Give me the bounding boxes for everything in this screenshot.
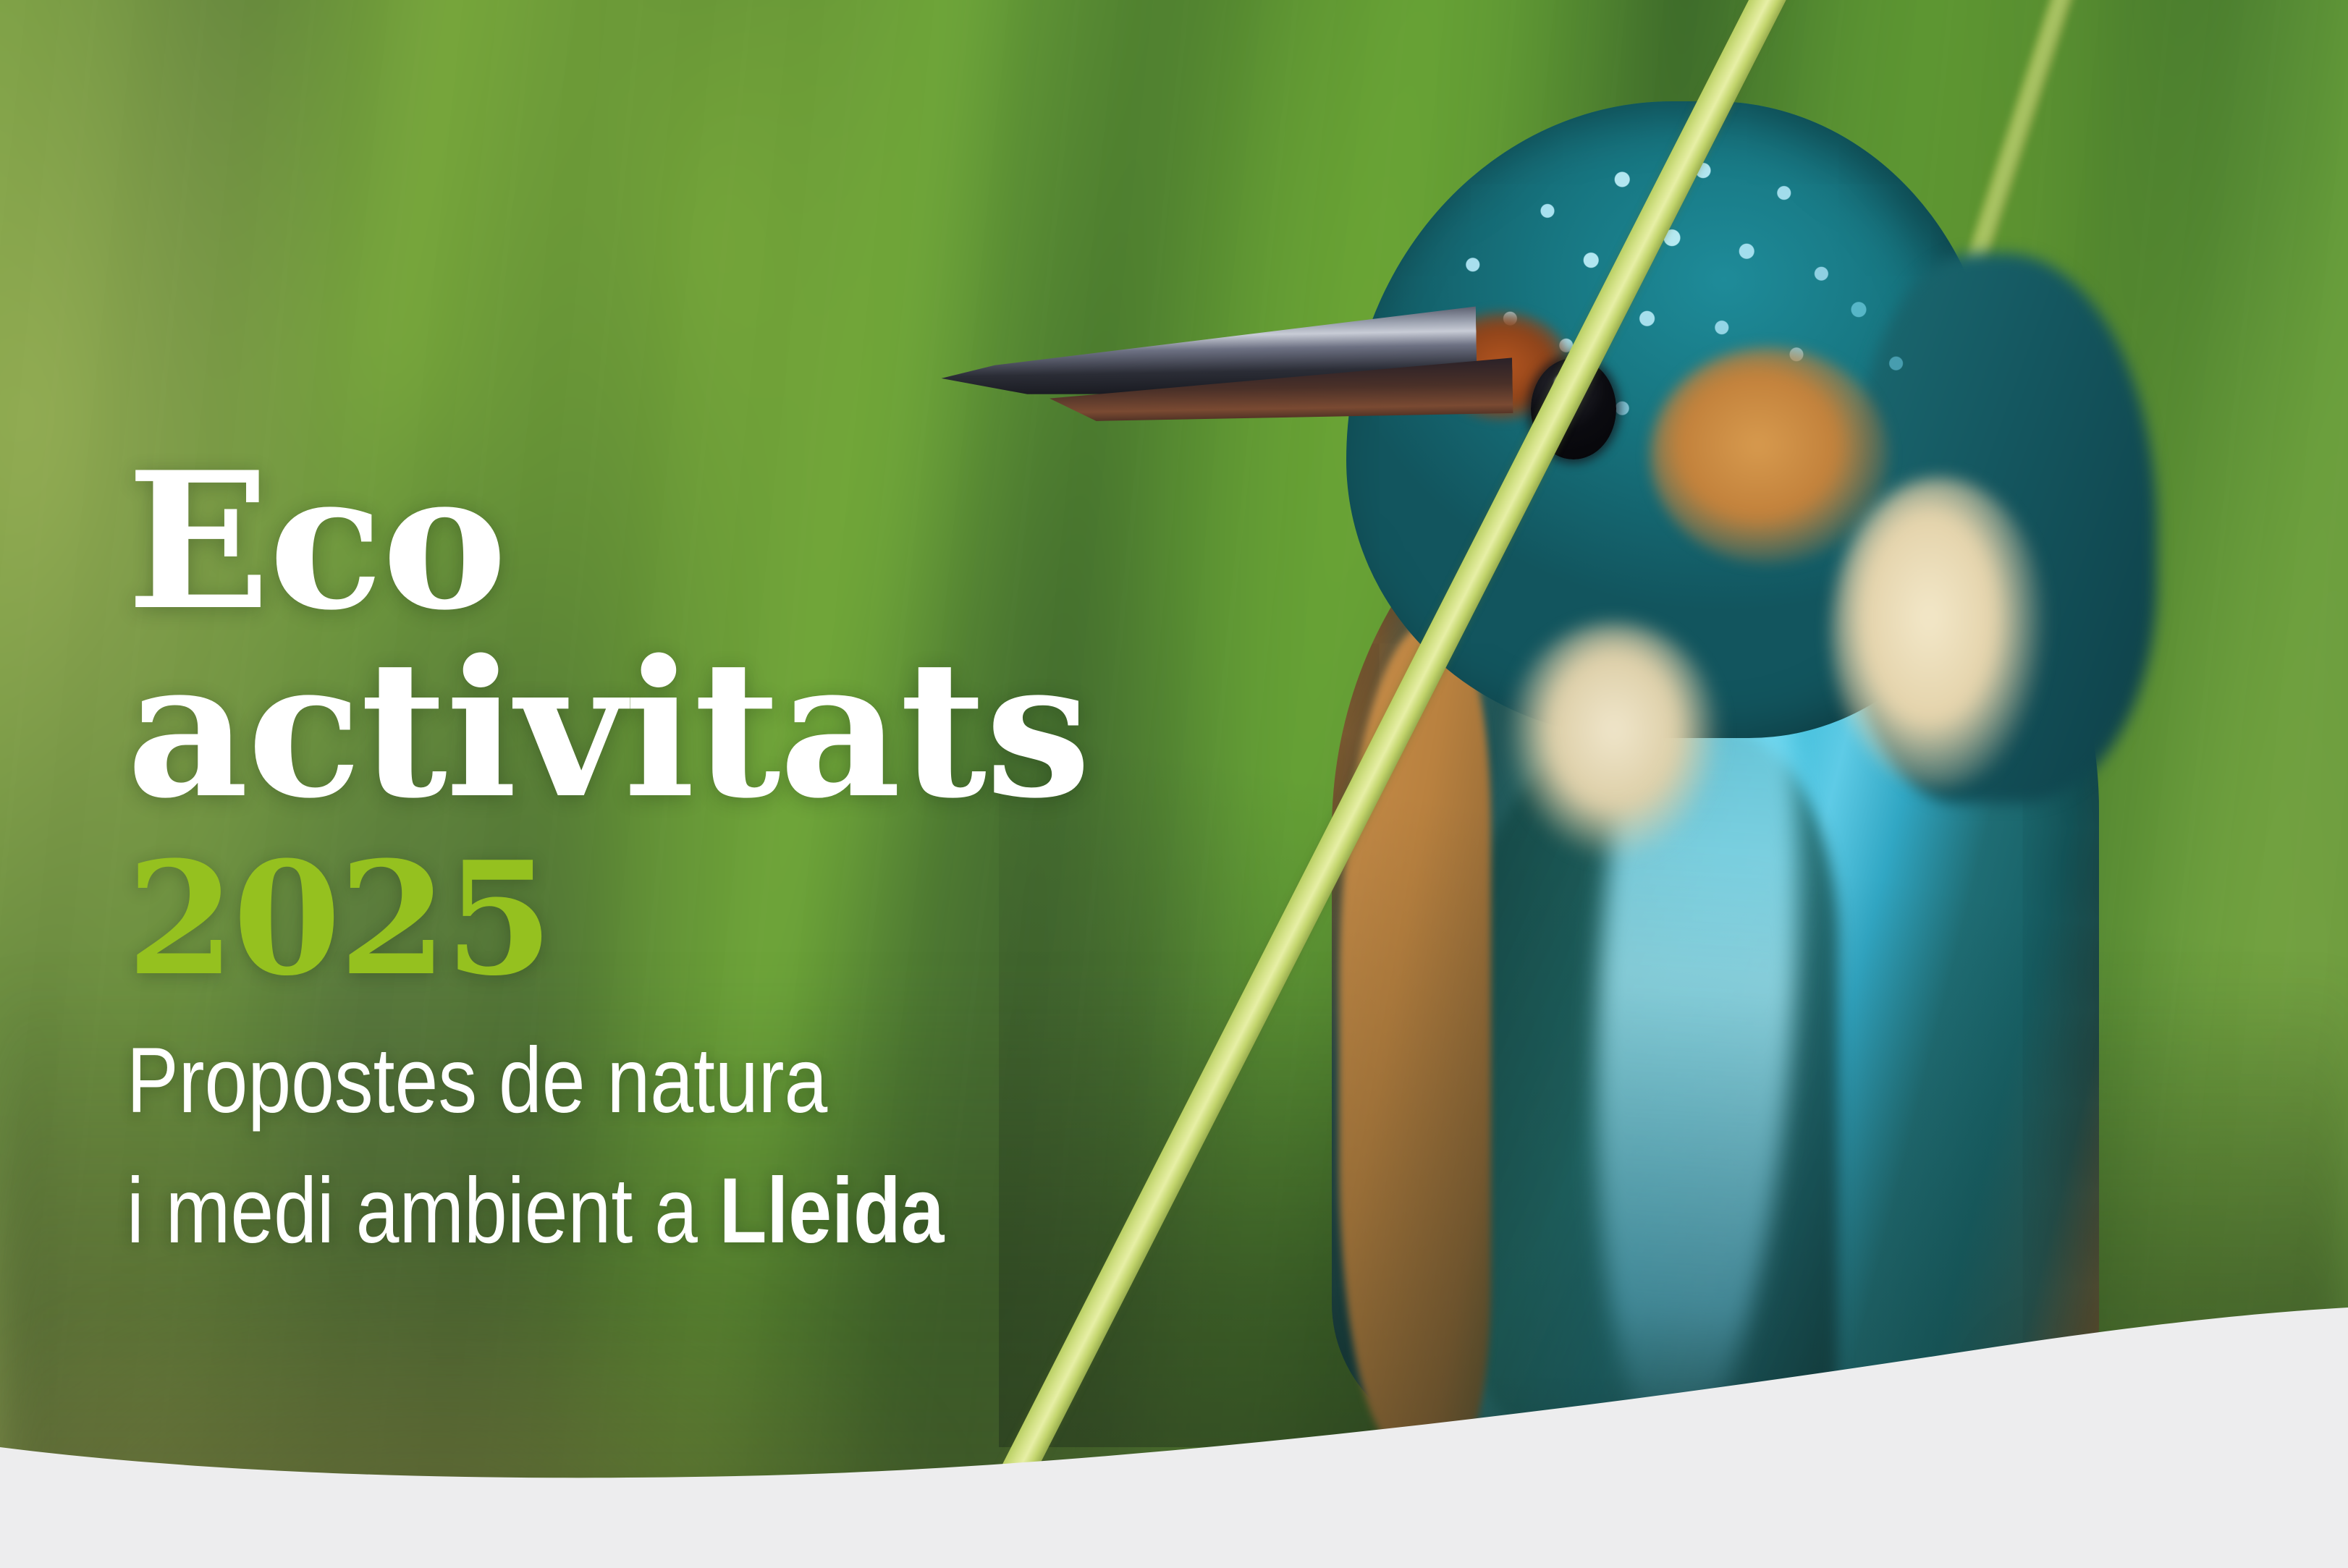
kingfisher-bird bbox=[999, 72, 2348, 1447]
wave-shape bbox=[0, 1308, 2348, 1568]
title-line-activitats: activitats bbox=[127, 651, 1090, 809]
bird-cheek-patch bbox=[1650, 347, 1889, 564]
subtitle-line-2: i medi ambient a Lleida bbox=[127, 1165, 944, 1258]
bird-throat-patch bbox=[1505, 622, 1723, 861]
bottom-wave-band bbox=[0, 1308, 2348, 1568]
subtitle-city: Lleida bbox=[719, 1159, 945, 1263]
subtitle-line-1: Propostes de natura bbox=[127, 1035, 827, 1127]
subtitle-prefix: i medi ambient a bbox=[127, 1159, 719, 1263]
title-line-eco: Eco bbox=[127, 463, 506, 621]
eco-activitats-poster: Eco activitats 2025 Propostes de natura … bbox=[0, 0, 2348, 1568]
year-label: 2025 bbox=[127, 850, 551, 987]
bird-neck-patch bbox=[1831, 478, 2048, 789]
